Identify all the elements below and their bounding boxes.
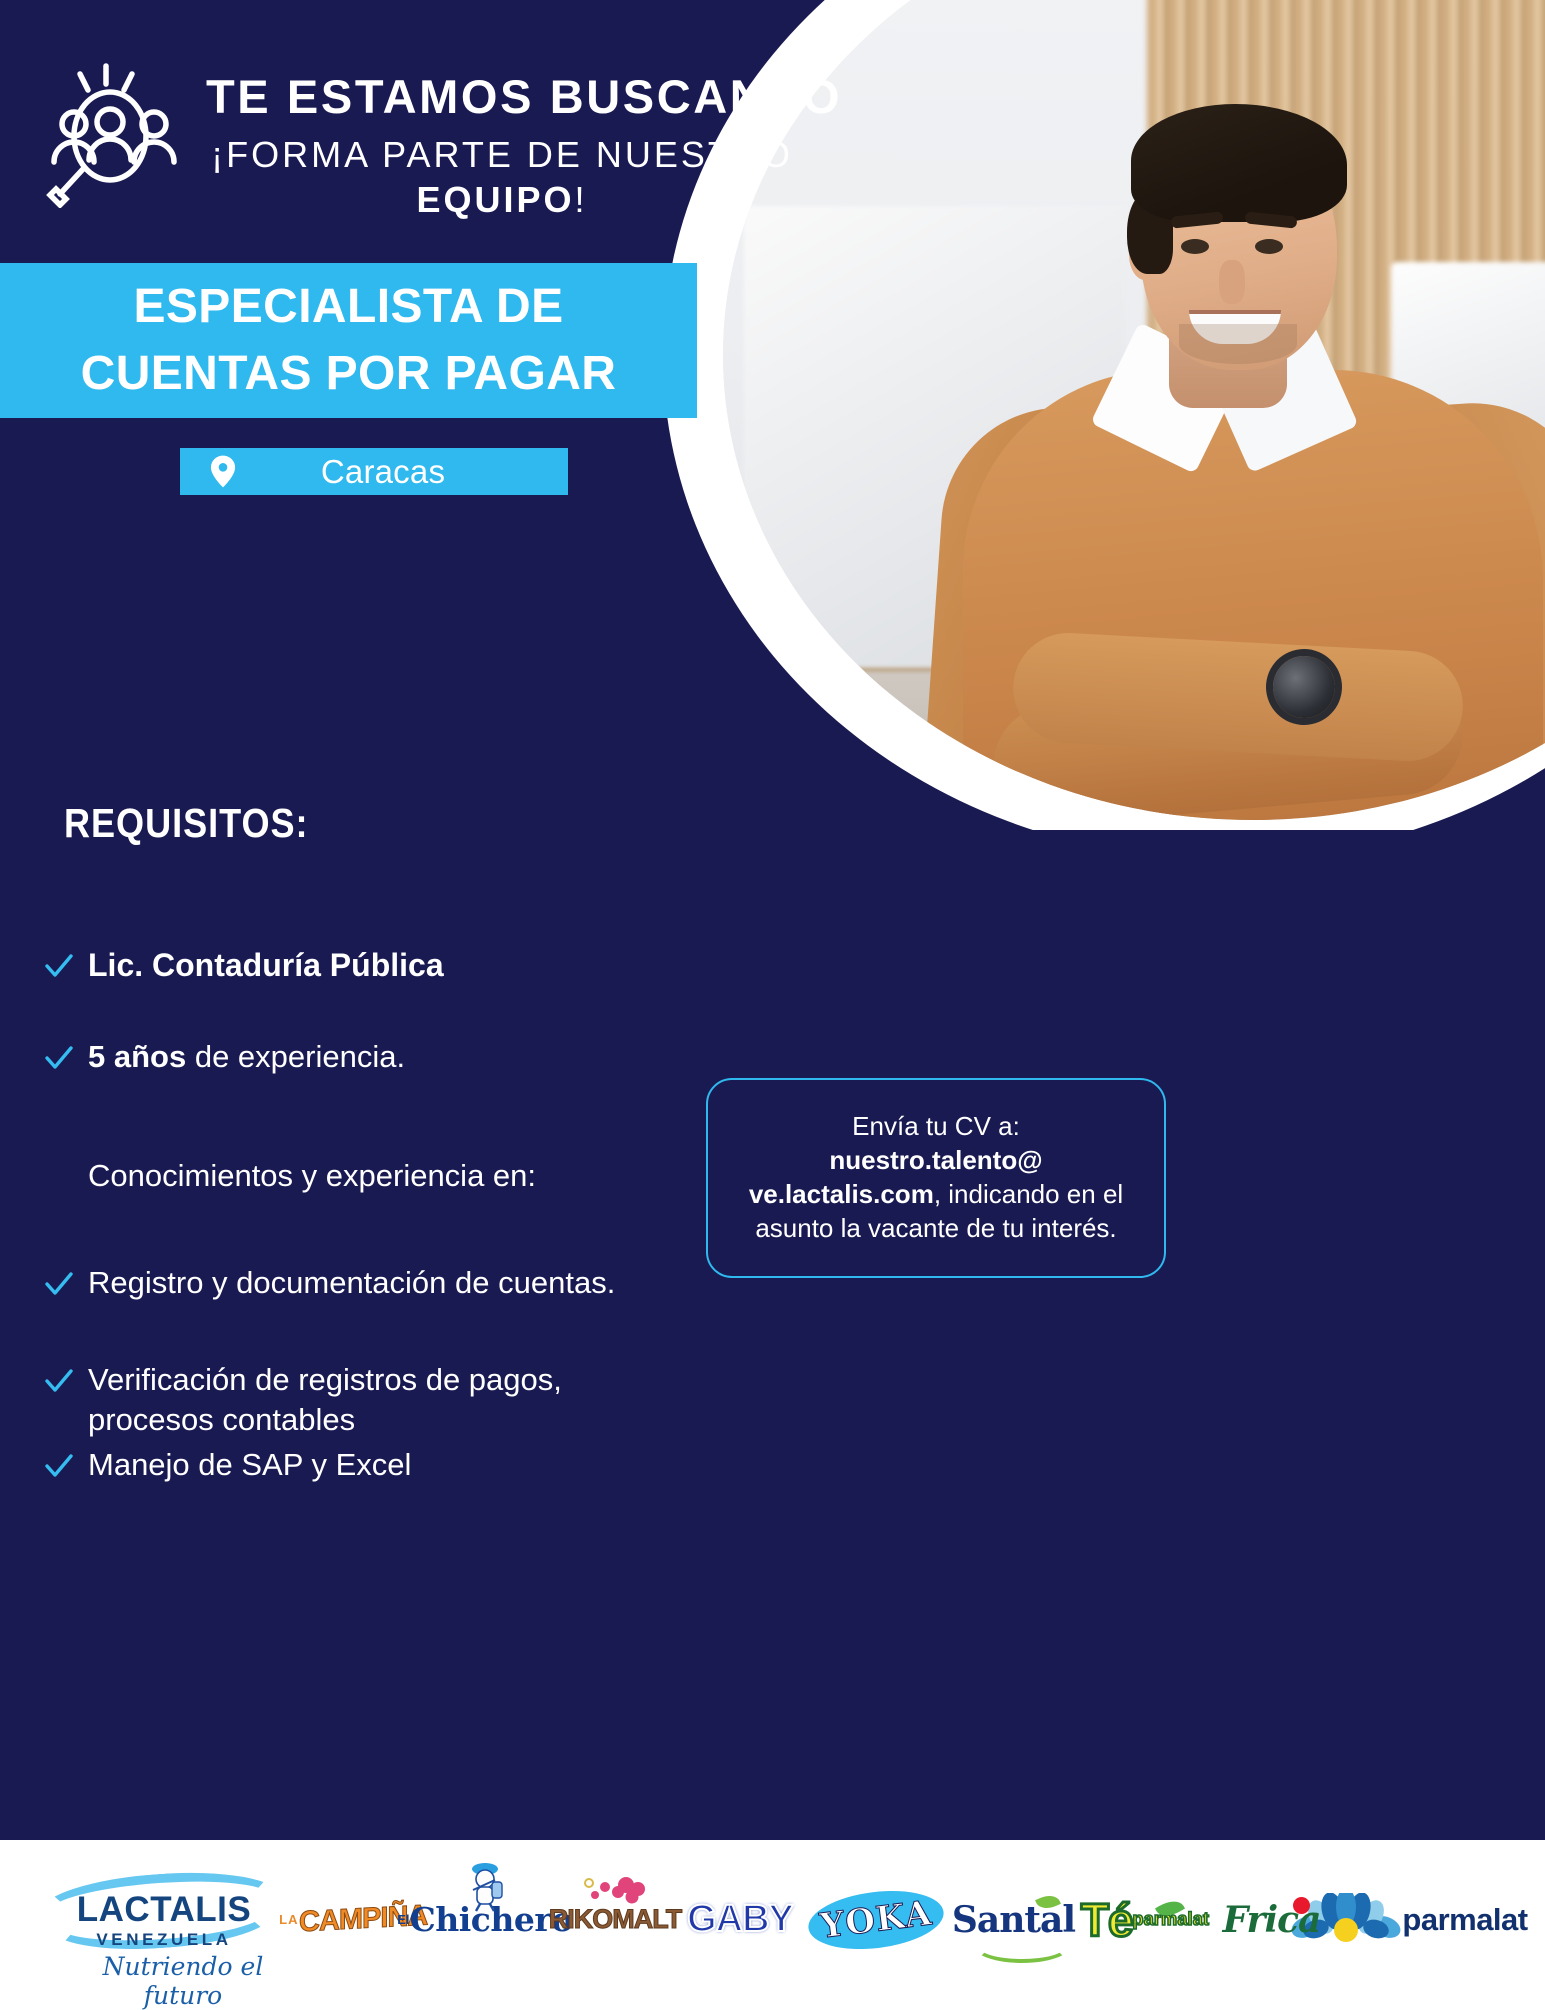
santal-arc-icon	[974, 1929, 1070, 1963]
search-people-icon	[44, 58, 184, 208]
requirement-text: Conocimientos y experiencia en:	[88, 1156, 536, 1195]
logo-santal: Santal	[946, 1899, 1081, 1941]
logo-parmalat: parmalat	[1334, 1893, 1484, 1947]
logo-yoka: YOKA	[806, 1892, 946, 1948]
check-icon	[44, 1366, 74, 1396]
employee-photo	[723, 0, 1545, 820]
headline-secondary: ¡FORMA PARTE DE NUESTRO	[206, 132, 798, 178]
list-item: Lic. Contaduría Pública	[44, 945, 734, 985]
headline-tertiary: EQUIPO!	[206, 178, 798, 222]
requirement-text: Lic. Contaduría Pública	[88, 945, 444, 985]
gaby-wordmark: GABY	[687, 1898, 793, 1941]
cv-email-part1: nuestro.talento@	[829, 1145, 1042, 1175]
headline-primary: TE ESTAMOS BUSCANDO	[206, 72, 798, 122]
headline-equipo: EQUIPO	[416, 179, 574, 220]
logo-riko-malt: RIKO MALT	[556, 1907, 674, 1932]
yoka-oval-shape: YOKA	[805, 1883, 947, 1955]
logo-te-parmalat: Té parmalat	[1081, 1897, 1209, 1943]
location-label: Caracas	[236, 453, 568, 491]
chichero-character-icon	[459, 1860, 511, 1912]
list-item: Conocimientos y experiencia en:	[44, 1156, 734, 1195]
yoka-wordmark: YOKA	[818, 1893, 934, 1946]
brand-footer: LACTALIS VENEZUELA Nutriendo el futuro L…	[0, 1840, 1545, 1999]
check-icon	[44, 1269, 74, 1299]
parmalat-wordmark: parmalat	[1402, 1902, 1527, 1938]
logo-la-campina: LA CAMPIÑA	[292, 1903, 414, 1936]
list-item: Manejo de SAP y Excel	[44, 1445, 734, 1484]
lactalis-country: VENEZUELA	[64, 1930, 264, 1950]
requirement-text: Registro y documentación de cuentas.	[88, 1263, 615, 1302]
riko-wordmark-line2: MALT	[612, 1907, 681, 1932]
requirement-text: 5 años de experiencia.	[88, 1037, 405, 1076]
chichero-article: El	[397, 1912, 409, 1927]
job-title-line2: CUENTAS POR PAGAR	[81, 341, 617, 407]
te-wordmark: Té	[1081, 1897, 1133, 1943]
requirements-heading: REQUISITOS:	[64, 800, 309, 847]
check-icon	[44, 1043, 74, 1073]
poster-navy-background: TE ESTAMOS BUSCANDO ¡FORMA PARTE DE NUES…	[0, 0, 1545, 1840]
requirement-tail: de experiencia.	[186, 1039, 405, 1074]
cv-intro: Envía tu CV a:	[852, 1111, 1020, 1141]
headline-exclaim: !	[575, 179, 588, 220]
check-icon	[44, 951, 74, 981]
frica-dot-icon	[1293, 1897, 1310, 1914]
headline-block: TE ESTAMOS BUSCANDO ¡FORMA PARTE DE NUES…	[206, 58, 798, 222]
logo-frica: Frica	[1209, 1899, 1334, 1941]
logo-gaby: GABY	[674, 1898, 806, 1941]
cv-contact-box: Envía tu CV a: nuestro.talento@ ve.lacta…	[706, 1078, 1166, 1278]
cv-contact-text: Envía tu CV a: nuestro.talento@ ve.lacta…	[708, 1110, 1164, 1245]
logo-el-chichero: El Chichero	[414, 1900, 556, 1939]
requirements-list: Lic. Contaduría Pública 5 años de experi…	[44, 945, 734, 1484]
job-title-line1: ESPECIALISTA DE	[133, 274, 563, 340]
list-item: Verificación de registros de pagos, proc…	[44, 1360, 734, 1438]
cv-email-part2: ve.lactalis.com	[749, 1179, 934, 1209]
riko-flowers-icon	[580, 1875, 650, 1909]
requirement-text: Verificación de registros de pagos, proc…	[88, 1360, 648, 1438]
lactalis-tagline: Nutriendo el futuro	[68, 1952, 298, 2010]
requirement-text: Manejo de SAP y Excel	[88, 1445, 411, 1484]
poster-header: TE ESTAMOS BUSCANDO ¡FORMA PARTE DE NUES…	[44, 58, 798, 222]
list-item: 5 años de experiencia.	[44, 1037, 734, 1076]
riko-wordmark-line1: RIKO	[549, 1907, 613, 1932]
photo-person	[873, 0, 1545, 820]
lactalis-wordmark: LACTALIS	[64, 1890, 264, 1930]
location-pin-icon	[210, 455, 236, 488]
list-item: Registro y documentación de cuentas.	[44, 1263, 734, 1302]
job-posting-poster: TE ESTAMOS BUSCANDO ¡FORMA PARTE DE NUES…	[0, 0, 1545, 1999]
requirement-emphasis: 5 años	[88, 1039, 186, 1074]
check-icon	[44, 1451, 74, 1481]
logo-lactalis-venezuela: LACTALIS VENEZUELA Nutriendo el futuro	[34, 1860, 292, 1980]
location-badge: Caracas	[180, 448, 568, 495]
job-title-banner: ESPECIALISTA DE CUENTAS POR PAGAR	[0, 263, 697, 418]
